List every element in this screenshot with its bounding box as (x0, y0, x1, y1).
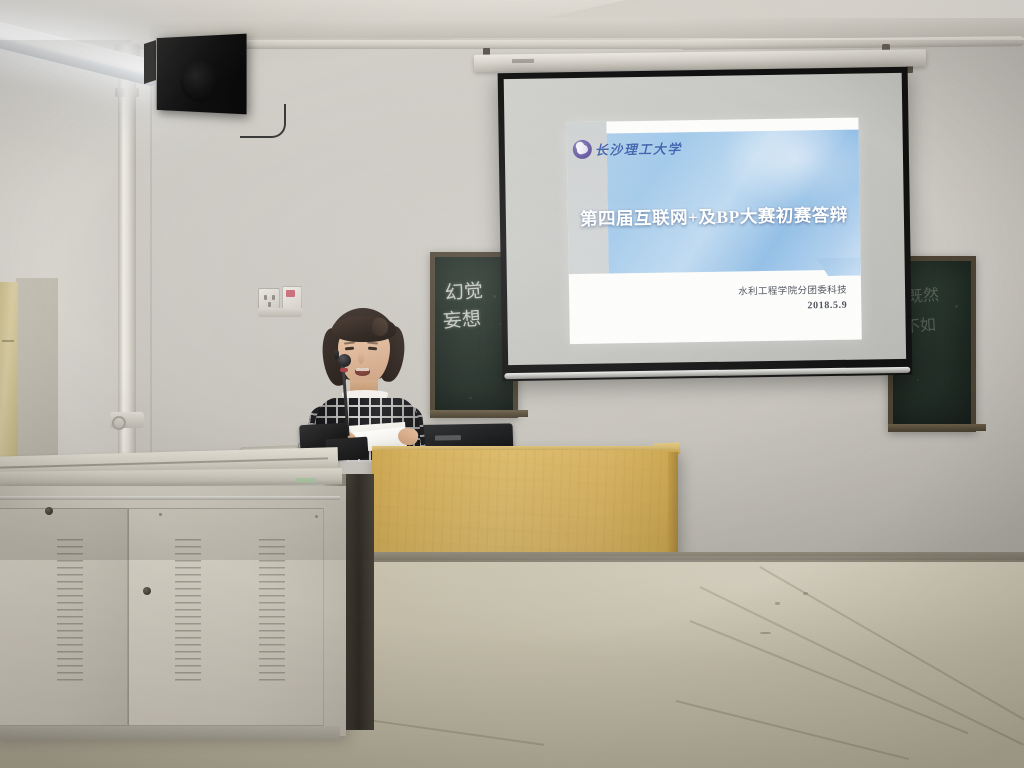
wall-pipe-vertical (118, 44, 136, 460)
cabinet-lock-knob[interactable] (143, 587, 151, 595)
chalk-ledge-right (888, 424, 986, 431)
slide-title: 第四届互联网+及BP大赛初赛答辩 (572, 202, 856, 231)
chalk-dust (917, 379, 919, 381)
housing-label (512, 59, 534, 63)
slide-footer-date: 2018.5.9 (738, 298, 847, 315)
chalk-text-right-1: 既然 (906, 286, 939, 308)
vent-slots-icon (57, 539, 83, 681)
cabinet-knob[interactable] (45, 507, 53, 515)
chalk-text-left-1: 幻觉 (444, 280, 484, 306)
ceiling-soffit (150, 18, 1024, 38)
cabinet-screw (315, 515, 318, 518)
left-wall-edge (16, 278, 58, 476)
floor-mark (803, 592, 808, 595)
chalk-dust (493, 295, 496, 298)
pipe-joint (115, 88, 139, 97)
speaker-bracket (144, 40, 156, 84)
university-name: 长沙理工大学 (595, 138, 682, 158)
classroom-photo: 幻觉 妄想 既然 不如 长沙理工大学 第四届互联网+及B (0, 0, 1024, 768)
slide-footer: 水利工程学院分团委科技 2018.5.9 (738, 284, 847, 315)
chalk-ledge-left (430, 410, 528, 417)
wall-seam-secondary (150, 44, 152, 464)
presentation-slide: 长沙理工大学 第四届互联网+及BP大赛初赛答辩 水利工程学院分团委科技 2018… (566, 118, 861, 345)
projector-screen-surface: 长沙理工大学 第四届互联网+及BP大赛初赛答辩 水利工程学院分团委科技 2018… (504, 73, 906, 365)
projector-screen: 长沙理工大学 第四届互联网+及BP大赛初赛答辩 水利工程学院分团委科技 2018… (498, 67, 913, 381)
chalk-dust (469, 397, 472, 399)
cabinet-rail (0, 496, 340, 500)
floor-mark (775, 602, 780, 605)
wall-outlet[interactable] (258, 288, 280, 310)
laptop-logo (435, 435, 461, 440)
cabinet-door-right[interactable] (128, 508, 324, 726)
nose (358, 352, 364, 364)
floor-mark (760, 632, 771, 634)
wall-speaker (157, 34, 247, 115)
indicator-light-icon (286, 290, 295, 297)
speaker-wire (240, 104, 286, 138)
baseboard (330, 552, 1024, 562)
cabinet-screw (159, 513, 162, 516)
microphone-icon[interactable] (338, 354, 351, 367)
teeth (356, 368, 369, 371)
cabinet-base (0, 726, 340, 740)
cabinet-sticker (296, 478, 316, 483)
outlet-tray (258, 308, 302, 317)
vent-slots-icon (259, 539, 285, 681)
university-logo: 长沙理工大学 (573, 138, 682, 159)
microphone-indicator (340, 368, 348, 372)
speaker-cone-icon (180, 60, 218, 103)
chalk-dust (955, 305, 958, 308)
university-seal-icon (573, 140, 592, 159)
vent-slots-icon (175, 539, 201, 681)
slide-corner-notch (817, 258, 861, 277)
cabinet-door-left[interactable] (0, 508, 128, 726)
pipe-ring (112, 416, 126, 430)
left-cabinet-panel (0, 282, 18, 472)
chalk-text-left-2: 妄想 (442, 308, 482, 334)
left-cabinet-seam (2, 340, 14, 342)
